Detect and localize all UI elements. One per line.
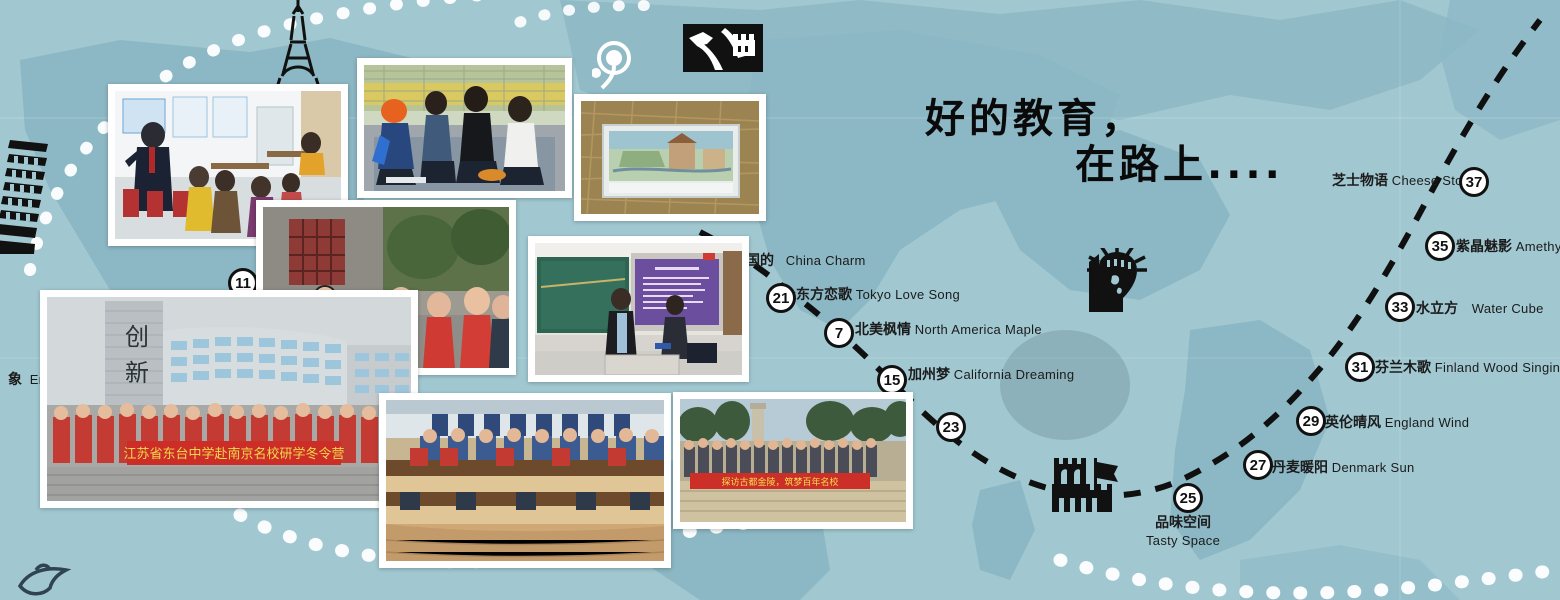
photo-banner-text-nanjing: 江苏省东台中学赴南京名校研学冬令营 bbox=[123, 446, 344, 462]
page-title: 好的教育， 在路上.... bbox=[925, 96, 1284, 188]
route-marker-33[interactable]: 33 bbox=[1385, 292, 1415, 322]
route-marker-35[interactable]: 35 bbox=[1425, 231, 1455, 261]
leaning-tower-pisa-icon bbox=[0, 136, 66, 259]
route-label-21-cn: 东方恋歌 bbox=[796, 287, 852, 303]
route-marker-31[interactable]: 31 bbox=[1345, 352, 1375, 382]
route-label-27-cn: 丹麦暖阳 bbox=[1272, 460, 1328, 476]
route-label-31-en: Finland Wood Singing bbox=[1435, 360, 1560, 375]
route-label-7-en: North America Maple bbox=[915, 322, 1042, 337]
svg-text:创: 创 bbox=[125, 323, 149, 351]
route-marker-29[interactable]: 29 bbox=[1296, 406, 1326, 436]
route-label-15-en: California Dreaming bbox=[954, 367, 1075, 382]
route-marker-15[interactable]: 15 bbox=[877, 365, 907, 395]
route-marker-27[interactable]: 27 bbox=[1243, 450, 1273, 480]
castle-flag-icon bbox=[1050, 452, 1126, 519]
route-label-clipped-left-cn: 象 bbox=[8, 372, 22, 388]
photo-lecture-hall-image bbox=[535, 243, 742, 375]
route-label-25-en: Tasty Space bbox=[1146, 533, 1220, 549]
route-label-15: 加州梦 California Dreaming bbox=[908, 367, 1074, 385]
route-label-33-cn: 水立方 bbox=[1416, 301, 1458, 317]
route-label-7: 北美枫情 North America Maple bbox=[855, 322, 1042, 340]
lantern-balloon-icon bbox=[592, 38, 640, 95]
headline-line-1: 好的教育， bbox=[925, 96, 1284, 142]
route-label-27-en: Denmark Sun bbox=[1332, 460, 1415, 475]
route-marker-37[interactable]: 37 bbox=[1459, 167, 1489, 197]
photo-model-display-table[interactable] bbox=[574, 94, 766, 221]
route-label-33-en: Water Cube bbox=[1472, 301, 1544, 316]
route-label-china-charm-cn: 国的 bbox=[746, 253, 774, 269]
photo-auditorium-audience-image bbox=[386, 400, 664, 561]
route-label-21: 东方恋歌 Tokyo Love Song bbox=[796, 287, 960, 305]
photo-school-building-group-image: 创 新 bbox=[47, 297, 411, 501]
photo-students-outdoor-image bbox=[364, 65, 565, 191]
route-label-7-cn: 北美枫情 bbox=[855, 322, 911, 338]
photo-banner-text-memorial: 探访古都金陵，筑梦百年名校 bbox=[721, 476, 838, 488]
route-label-37-cn: 芝士物语 bbox=[1332, 173, 1388, 189]
photo-students-outdoor-activity[interactable] bbox=[357, 58, 572, 198]
route-label-35-en: Amethyst Charm bbox=[1516, 239, 1560, 254]
route-label-35-cn: 紫晶魅影 bbox=[1456, 239, 1512, 255]
route-label-29-en: England Wind bbox=[1385, 415, 1470, 430]
route-label-15-cn: 加州梦 bbox=[908, 367, 950, 383]
route-label-29: 英伦晴风 England Wind bbox=[1325, 415, 1469, 433]
route-label-25-cn: 品味空间 bbox=[1146, 515, 1220, 533]
route-marker-25[interactable]: 25 bbox=[1173, 483, 1203, 513]
route-marker-23[interactable]: 23 bbox=[936, 412, 966, 442]
photo-memorial-steps-group[interactable]: 探访古都金陵，筑梦百年名校 bbox=[673, 392, 913, 529]
route-label-27: 丹麦暖阳 Denmark Sun bbox=[1272, 460, 1415, 478]
photo-school-building-group[interactable]: 创 新 bbox=[40, 290, 418, 508]
photo-lecture-hall-presentation[interactable] bbox=[528, 236, 749, 382]
route-marker-7[interactable]: 7 bbox=[824, 318, 854, 348]
headline-line-2: 在路上.... bbox=[1075, 142, 1284, 188]
poster-canvas: 好的教育， 在路上.... 11 21 东方恋歌 Tokyo Love Song… bbox=[0, 0, 1560, 600]
route-label-china-charm-en: China Charm bbox=[786, 253, 866, 268]
route-label-31-cn: 芬兰木歌 bbox=[1375, 360, 1431, 376]
route-marker-21[interactable]: 21 bbox=[766, 283, 796, 313]
route-label-33: 水立方 Water Cube bbox=[1416, 301, 1544, 319]
photo-model-display-image bbox=[581, 101, 759, 214]
dolphin-icon bbox=[16, 562, 80, 600]
route-label-35: 紫晶魅影 Amethyst Charm bbox=[1456, 239, 1560, 257]
route-label-25: 品味空间 Tasty Space bbox=[1146, 515, 1220, 549]
route-label-29-cn: 英伦晴风 bbox=[1325, 415, 1381, 431]
route-label-china-charm: 国的 China Charm bbox=[746, 253, 866, 271]
route-label-21-en: Tokyo Love Song bbox=[856, 287, 960, 302]
great-wall-icon bbox=[683, 22, 763, 79]
route-label-37: 芝士物语 Cheese Story bbox=[1332, 173, 1474, 191]
svg-text:新: 新 bbox=[125, 359, 149, 387]
statue-of-liberty-icon bbox=[1085, 248, 1157, 319]
photo-auditorium-audience[interactable] bbox=[379, 393, 671, 568]
route-label-31: 芬兰木歌 Finland Wood Singing bbox=[1375, 360, 1560, 378]
photo-memorial-steps-image: 探访古都金陵，筑梦百年名校 bbox=[680, 399, 906, 522]
